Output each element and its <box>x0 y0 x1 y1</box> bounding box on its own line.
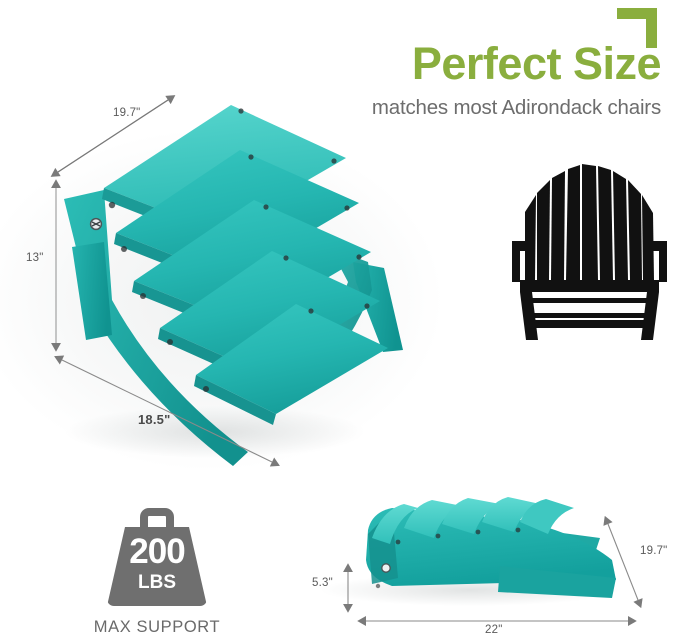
dim-label-13: 13" <box>26 252 43 264</box>
max-support-block: 200 LBS MAX SUPPORT <box>62 508 252 637</box>
capacity-unit: LBS <box>101 573 213 592</box>
capacity-value: 200 <box>101 534 213 569</box>
dim-label-19-7-folded: 19.7" <box>640 545 667 557</box>
dim-label-18-5: 18.5" <box>138 412 170 427</box>
weight-kettlebell-icon: 200 LBS <box>101 508 213 606</box>
page-subtitle: matches most Adirondack chairs <box>372 96 661 120</box>
page-title: Perfect Size <box>372 40 661 87</box>
dimline-18-5-bottom <box>62 360 272 462</box>
dim-label-5-3: 5.3" <box>312 577 333 589</box>
dimline-19-7-folded <box>608 524 638 600</box>
heading-block: Perfect Size matches most Adirondack cha… <box>372 40 661 120</box>
adirondack-chair-silhouette <box>512 164 667 340</box>
capacity-caption: MAX SUPPORT <box>62 618 252 637</box>
dim-label-22: 22" <box>485 624 502 636</box>
infographic-canvas: Perfect Size matches most Adirondack cha… <box>0 0 679 641</box>
main-ottoman-illustration <box>64 105 403 466</box>
folded-ottoman-illustration <box>366 497 616 598</box>
dim-label-19-7-top: 19.7" <box>113 107 140 119</box>
